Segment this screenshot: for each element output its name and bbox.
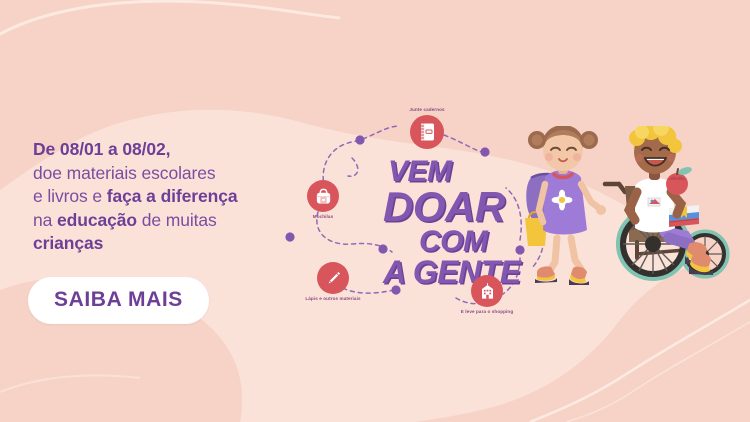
- building-icon: [478, 282, 497, 301]
- node-label-cadernos: Junte cadernos: [397, 107, 457, 112]
- donation-campaign-banner: De 08/01 a 08/02, doe materiais escolare…: [0, 0, 750, 422]
- notebook-icon-circle: [410, 115, 444, 149]
- node-lapis-e-outros-materiais[interactable]: Lápis e outros materiais: [290, 262, 376, 301]
- node-label-shopping: E leve para o shopping: [447, 309, 527, 314]
- node-mochilas[interactable]: Mochilas: [296, 180, 350, 219]
- children-illustration: [515, 126, 750, 301]
- copy-block: De 08/01 a 08/02, doe materiais escolare…: [33, 138, 308, 256]
- headline-line-4-plain-2: de muitas: [137, 210, 217, 230]
- girl-with-backpack: [525, 126, 606, 285]
- lettering-line-1: VEM: [388, 158, 533, 186]
- headline-line-2: doe materiais escolares: [33, 163, 216, 183]
- headline-date: De 08/01 a 08/02,: [33, 139, 170, 159]
- campaign-lettering: VEM DOAR COM A GENTE: [383, 158, 533, 288]
- headline-line-3-plain: e livros e: [33, 186, 107, 206]
- backpack-icon-circle: [307, 180, 339, 212]
- node-junte-cadernos[interactable]: Junte cadernos: [397, 107, 457, 149]
- headline-line-5-bold: crianças: [33, 233, 103, 253]
- node-label-lapis: Lápis e outros materiais: [290, 296, 376, 301]
- saiba-mais-button[interactable]: SAIBA MAIS: [28, 277, 209, 324]
- building-icon-circle: [471, 275, 503, 307]
- page-title: De 08/01 a 08/02, doe materiais escolare…: [33, 138, 308, 256]
- headline-line-4-bold: educação: [57, 210, 137, 230]
- node-label-mochilas: Mochilas: [296, 214, 350, 219]
- headline-line-3-bold: faça a diferença: [107, 186, 238, 206]
- notebook-icon: [418, 122, 436, 142]
- boy-in-wheelchair: [605, 126, 727, 278]
- headline-line-4-plain-1: na: [33, 210, 57, 230]
- lettering-line-2: DOAR: [383, 187, 533, 226]
- pencil-icon: [324, 269, 343, 288]
- pencil-icon-circle: [317, 262, 349, 294]
- backpack-icon: [314, 187, 333, 206]
